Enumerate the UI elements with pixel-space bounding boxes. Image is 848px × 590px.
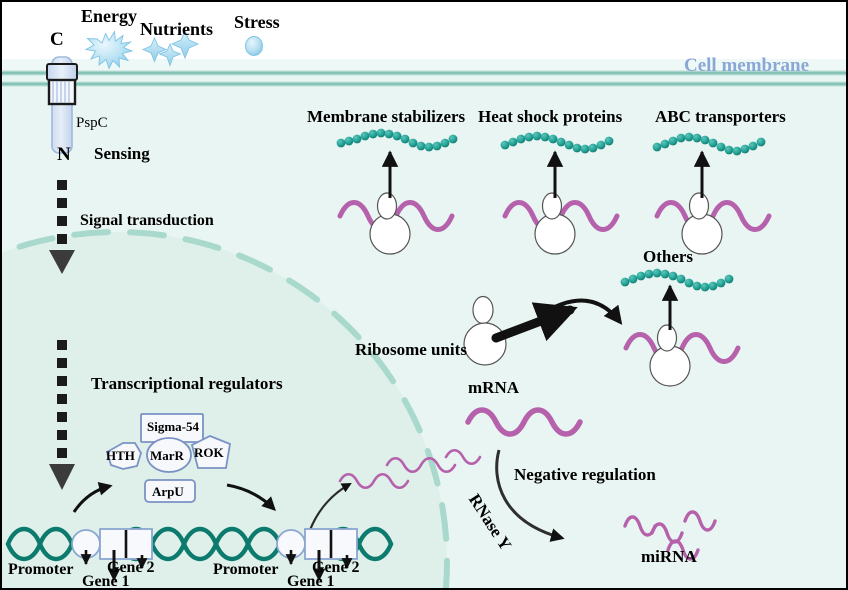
ribosome-small-subunit [658,325,677,351]
product-abc-transporters-label: ABC transporters [655,108,786,125]
regulator-marr-label: MarR [150,449,184,462]
product-others-label: Others [643,248,693,265]
pspc-cap [47,64,77,80]
diagram-svg [2,2,848,590]
operon-1-promoter-label: Promoter [8,562,73,578]
stimulus-energy-label: Energy [81,7,137,25]
ribosome-large-subunit [464,323,506,365]
regulator-arpu-label: ArpU [152,485,184,498]
terminus-n-label: N [57,145,71,164]
regulator-rok-label: ROK [194,446,224,459]
ribosome-small-subunit [378,193,397,219]
ribosome-large-subunit [535,214,575,254]
stimulus-nutrients-label: Nutrients [140,20,213,38]
product-heat-shock-proteins-label: Heat shock proteins [478,108,622,125]
ribosome-small-subunit [473,297,493,324]
pspc-protein [47,57,77,153]
negative-regulation-label: Negative regulation [514,466,656,483]
pspc-label: PspC [76,116,108,131]
operon-2-promoter-label: Promoter [213,562,278,578]
mrna-label: mRNA [468,379,519,396]
ribosome-small-subunit [690,193,709,219]
ribosome-small-subunit [543,193,562,219]
operon-2-gene1-label: Gene 1 [287,574,335,590]
product-membrane-stabilizers-label: Membrane stabilizers [307,108,465,125]
ribosome-large-subunit [370,214,410,254]
operon-1-gene2-label: Gene 2 [107,560,155,576]
operon-1-gene1-label: Gene 1 [82,574,130,590]
figure-canvas: C N Energy Nutrients Stress Cell membran… [0,0,848,590]
cell-membrane-label: Cell membrane [684,56,809,75]
regulator-hth-label: HTH [106,449,135,462]
signal-transduction-label: Signal transduction [80,213,214,229]
regulator-sigma54-label: Sigma-54 [147,420,199,433]
terminus-c-label: C [50,30,64,49]
transcriptional-regulators-heading: Transcriptional regulators [91,375,283,392]
stimulus-stress-icon [246,37,263,56]
sensing-label: Sensing [94,145,150,162]
ribosome-large-subunit [650,346,690,386]
mirna-label: miRNA [641,548,697,565]
stimulus-stress-label: Stress [234,13,280,31]
operon-2-gene2-label: Gene 2 [312,560,360,576]
ribosome-units-label: Ribosome units [355,341,467,358]
